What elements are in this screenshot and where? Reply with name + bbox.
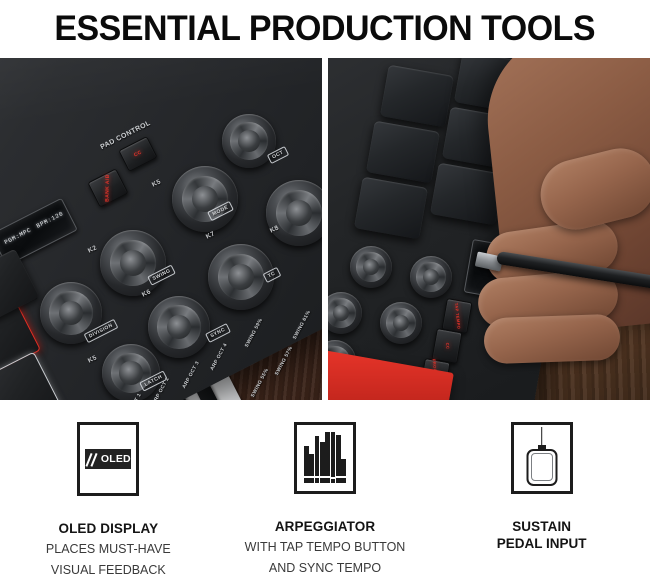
arp-column — [309, 432, 314, 483]
pedal-inner-icon — [531, 453, 553, 481]
tap-tempo-label: TAP TEMPO — [453, 302, 462, 329]
feature-oled-display: OLED OLED DISPLAY PLACES MUST-HAVE VISUA… — [0, 404, 217, 587]
photo-midi-controller-knobs: PGM:MPC BPM:120 PAD CONTROL CC BANK A/B … — [0, 58, 322, 400]
arp-column — [304, 432, 309, 483]
knob-k2[interactable] — [100, 230, 166, 296]
arp-column — [336, 432, 341, 483]
feature-title-sustain: SUSTAIN — [512, 518, 571, 535]
pad-1[interactable] — [380, 65, 454, 128]
arpeggiator-icon — [294, 422, 356, 494]
arp-column — [320, 432, 325, 483]
bank-ab-button-label: BANK A/B — [105, 174, 111, 202]
knob-k5[interactable] — [102, 344, 160, 400]
oled-line-2: BPM:120 — [35, 210, 64, 230]
page-title-text: ESSENTIAL PRODUCTION TOOLS — [55, 11, 596, 46]
feature-title-arpeggiator: ARPEGGIATOR — [275, 518, 375, 535]
pad-3[interactable] — [366, 121, 440, 184]
oled-chip: OLED — [85, 449, 131, 469]
oled-display-icon: OLED — [77, 422, 139, 496]
pad-5[interactable] — [354, 177, 428, 240]
arpeggiator-bars — [304, 432, 346, 483]
oled-chip-label: OLED — [101, 454, 131, 464]
oled-line-1: PGM:MPC — [3, 226, 32, 246]
product-feature-page: ESSENTIAL PRODUCTION TOOLS — [0, 0, 650, 587]
knob-k3[interactable] — [172, 166, 238, 232]
sustain-pedal-icon — [511, 422, 573, 494]
knob-k6[interactable] — [148, 296, 210, 358]
knob-k4[interactable] — [222, 114, 276, 168]
photo-strip: PGM:MPC BPM:120 PAD CONTROL CC BANK A/B … — [0, 58, 650, 400]
arp-column — [315, 432, 320, 483]
feature-title-oled: OLED DISPLAY — [58, 520, 158, 537]
arp-column — [325, 432, 330, 483]
arp-column — [331, 432, 336, 483]
feature-line-arp-1: WITH TAP TEMPO BUTTON — [245, 539, 406, 556]
feature-line-sustain-1: PEDAL INPUT — [497, 535, 587, 552]
feature-row: OLED OLED DISPLAY PLACES MUST-HAVE VISUA… — [0, 404, 650, 587]
arp-column — [341, 432, 346, 483]
feature-arpeggiator: ARPEGGIATOR WITH TAP TEMPO BUTTON AND SY… — [217, 404, 434, 587]
right-knob-1[interactable] — [350, 246, 392, 288]
cc-right-label: CC — [444, 342, 451, 349]
right-knob-2[interactable] — [410, 256, 452, 298]
photo-hand-usb-cable: AKAI TAP TEMPO CC PROG CHANGE NOTE R — [328, 58, 650, 400]
page-title: ESSENTIAL PRODUCTION TOOLS — [0, 0, 650, 56]
right-knob-4[interactable] — [380, 302, 422, 344]
feature-line-arp-2: AND SYNC TEMPO — [269, 560, 381, 577]
finger-ring — [483, 314, 621, 365]
feature-line-oled-1: PLACES MUST-HAVE — [46, 541, 171, 558]
cc-button-label: CC — [133, 150, 143, 159]
feature-sustain-pedal: SUSTAIN PEDAL INPUT — [433, 404, 650, 587]
feature-line-oled-2: VISUAL FEEDBACK — [51, 562, 166, 579]
oled-slash-icon — [86, 453, 99, 466]
